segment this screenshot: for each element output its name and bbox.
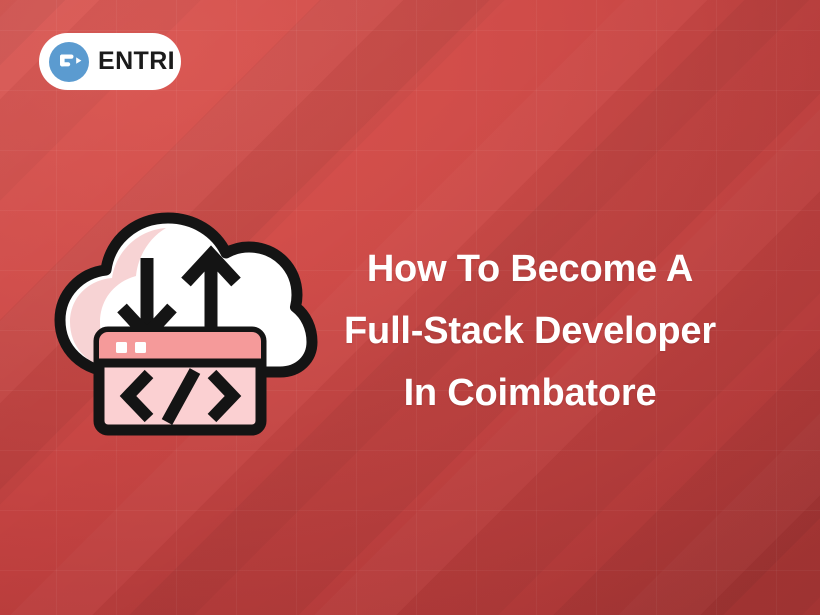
entri-play-logo-icon	[49, 42, 89, 82]
page-title: How To Become A Full-Stack Developer In …	[330, 238, 730, 424]
title-line-1: How To Become A	[330, 238, 730, 300]
title-line-2: Full-Stack Developer	[330, 300, 730, 362]
brand-logo[interactable]: ENTRI	[39, 33, 181, 90]
browser-window-icon	[99, 332, 261, 430]
title-line-3: In Coimbatore	[330, 362, 730, 424]
browser-dot	[116, 342, 127, 353]
browser-dot	[135, 342, 146, 353]
blog-banner-canvas: ENTRI	[0, 0, 820, 615]
cloud-code-illustration	[48, 172, 320, 436]
brand-name: ENTRI	[98, 49, 175, 74]
